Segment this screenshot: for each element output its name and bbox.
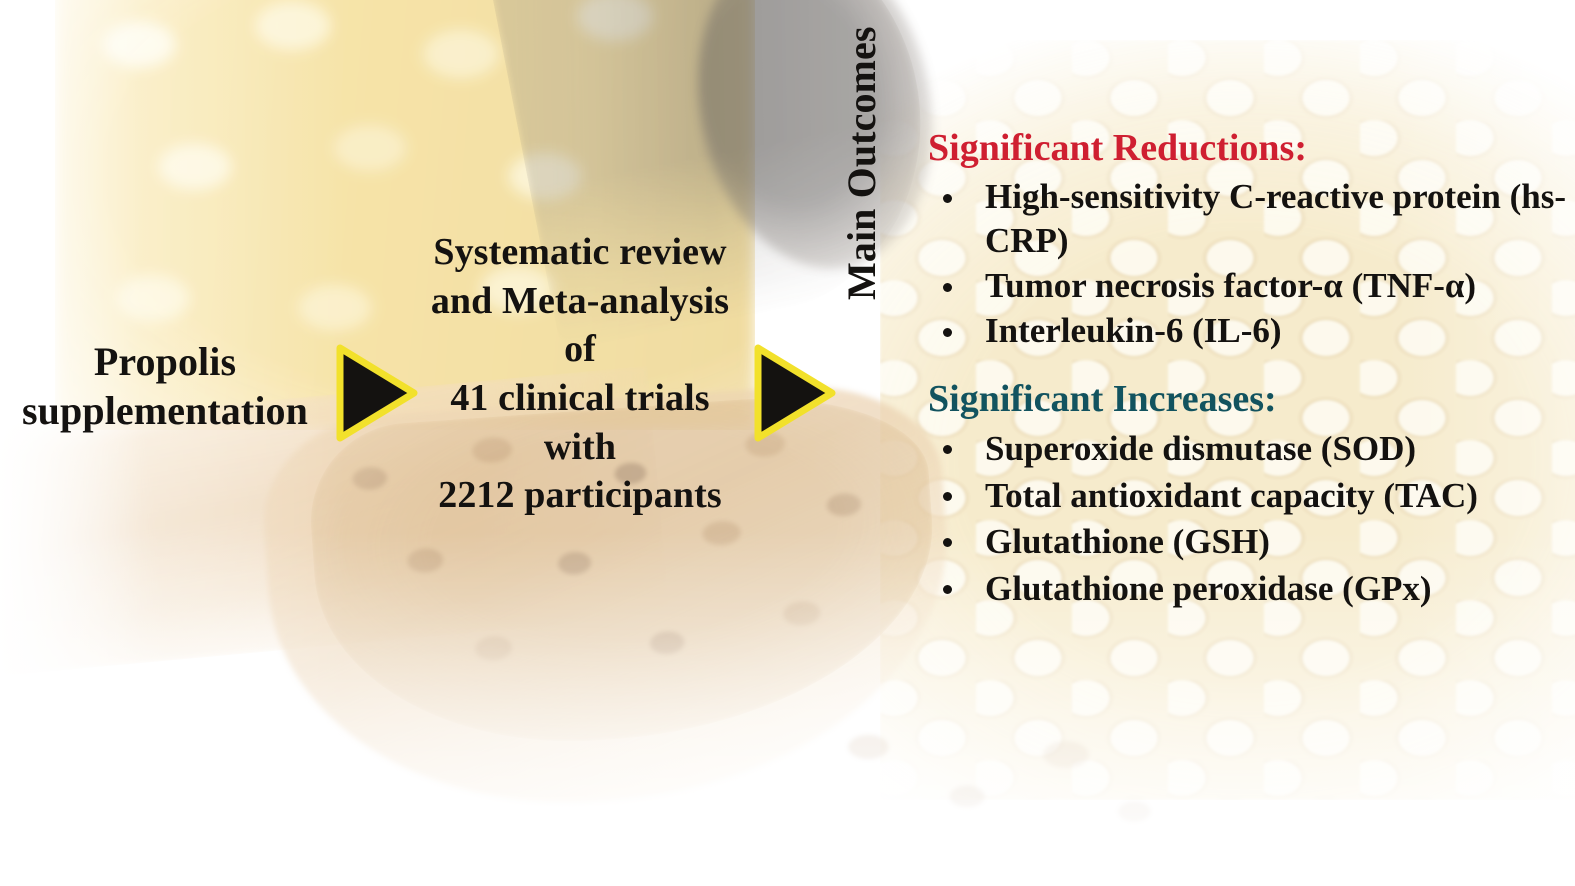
reductions-list: High-sensitivity C-reactive protein (hs-… bbox=[928, 175, 1575, 353]
methodology-line-1: Systematic review bbox=[400, 228, 760, 277]
increases-list: Superoxide dismutase (SOD) Total antioxi… bbox=[928, 426, 1575, 611]
list-item: Tumor necrosis factor-α (TNF-α) bbox=[928, 264, 1575, 308]
list-item: High-sensitivity C-reactive protein (hs-… bbox=[928, 175, 1575, 263]
list-item: Superoxide dismutase (SOD) bbox=[928, 426, 1575, 472]
list-item: Glutathione (GSH) bbox=[928, 519, 1575, 565]
methodology-label: Systematic review and Meta-analysis of 4… bbox=[400, 228, 760, 520]
increases-heading: Significant Increases: bbox=[928, 377, 1575, 422]
graphical-abstract: Propolis supplementation Systematic revi… bbox=[0, 0, 1575, 886]
list-item: Interleukin-6 (IL-6) bbox=[928, 309, 1575, 353]
methodology-line-2: and Meta-analysis bbox=[400, 277, 760, 326]
outcome-group-reductions: Significant Reductions: High-sensitivity… bbox=[928, 126, 1575, 353]
intervention-label: Propolis supplementation bbox=[0, 338, 330, 436]
list-item: Glutathione peroxidase (GPx) bbox=[928, 566, 1575, 612]
list-item: Total antioxidant capacity (TAC) bbox=[928, 473, 1575, 519]
intervention-line-1: Propolis bbox=[0, 338, 330, 387]
methodology-line-5: with bbox=[400, 423, 760, 472]
intervention-line-2: supplementation bbox=[0, 387, 330, 436]
main-outcomes-vertical-label: Main Outcomes bbox=[834, 0, 890, 300]
abstract-content: Propolis supplementation Systematic revi… bbox=[0, 0, 1575, 886]
outcomes-panel: Significant Reductions: High-sensitivity… bbox=[928, 126, 1575, 612]
methodology-line-3: of bbox=[400, 325, 760, 374]
methodology-line-6: 2212 participants bbox=[400, 471, 760, 520]
reductions-heading: Significant Reductions: bbox=[928, 126, 1575, 171]
methodology-line-4: 41 clinical trials bbox=[400, 374, 760, 423]
outcome-group-increases: Significant Increases: Superoxide dismut… bbox=[928, 377, 1575, 611]
